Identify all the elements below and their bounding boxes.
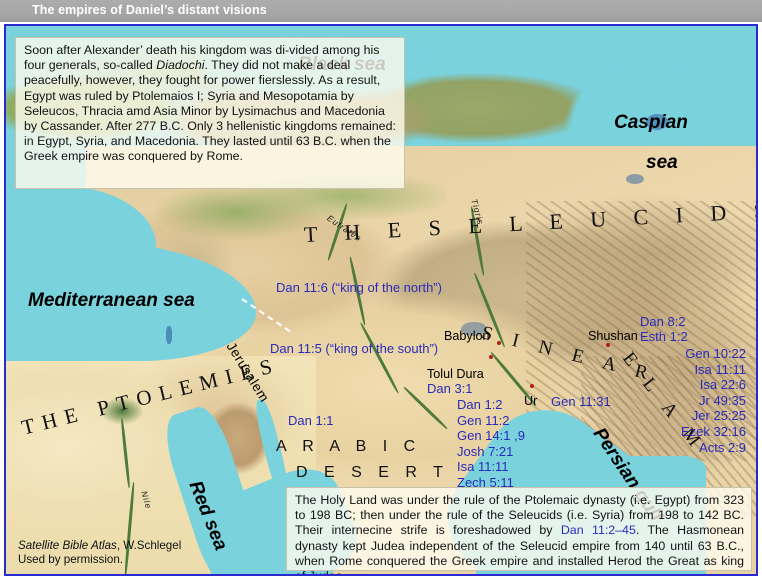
reference-item: Jr 49:35 [594, 393, 746, 409]
desert-label-arabic: A R A B I C [276, 438, 421, 456]
reference-item: Gen 10:22 [594, 346, 746, 362]
credit-atlas-title: Satellite Bible Atlas [18, 539, 117, 552]
reference-item: Isa 11:11 [457, 459, 525, 475]
city-label-shushan: Shushan [588, 329, 638, 343]
reference-item: Gen 11:2 [457, 413, 525, 429]
map-frame: Black sea Caspian sea Mediterranean sea … [4, 24, 758, 576]
reference-item: Dan 1:2 [457, 397, 525, 413]
city-dot-ur [530, 384, 534, 388]
reference-list-elam: Gen 10:22 Isa 11:11 Isa 22:6 Jr 49:35 Je… [594, 346, 746, 455]
screenshot-root: The empires of Daniel’s distant visions [0, 0, 762, 580]
reference-item: Ezek 32:16 [594, 424, 746, 440]
credit-line-2: Used by permission. [18, 553, 181, 567]
sealabel-caspian-sea-line2: sea [646, 152, 678, 174]
reference-item: Isa 22:6 [594, 377, 746, 393]
note-bottom: The Holy Land was under the rule of the … [286, 487, 752, 571]
city-label-tolul-dura: Tolul Dura [427, 367, 484, 381]
note-bottom-reference[interactable]: Dan 11:2–45 [561, 523, 636, 537]
sealabel-mediterranean-sea: Mediterranean sea [28, 290, 195, 312]
annotation-shushan-ref-2: Esth 1:2 [640, 329, 688, 344]
water-dead-sea [166, 326, 172, 344]
map-credit: Satellite Bible Atlas, W.Schlegel Used b… [18, 539, 181, 567]
reference-item: Josh 7:21 [457, 444, 525, 460]
reference-item: Acts 2:9 [594, 440, 746, 456]
reference-item: Isa 11:11 [594, 362, 746, 378]
annotation-king-of-the-south: Dan 11:5 (“king of the south”) [270, 341, 438, 356]
city-dot-babylon-2 [489, 355, 493, 359]
note-top-part2: . They did not make a deal peacefully, h… [24, 58, 396, 163]
desert-label-desert: D E S E R T [296, 464, 449, 482]
annotation-jerusalem-ref: Dan 1:1 [288, 413, 334, 428]
city-dot-babylon [497, 341, 501, 345]
annotation-shushan-ref-1: Dan 8:2 [640, 314, 686, 329]
city-label-ur: Ur [524, 394, 537, 408]
city-label-babylon: Babylon [444, 329, 490, 343]
sealabel-caspian-sea: Caspian [614, 112, 688, 134]
annotation-tolul-dura-ref: Dan 3:1 [427, 381, 473, 396]
reference-list-sinear: Dan 1:2 Gen 11:2 Gen 14:1 ,9 Josh 7:21 I… [457, 397, 525, 491]
note-top: Soon after Alexander’ death his kingdom … [15, 37, 405, 189]
credit-line-1: Satellite Bible Atlas, W.Schlegel [18, 539, 181, 553]
credit-author: , W.Schlegel [117, 539, 181, 552]
window-title-bar: The empires of Daniel’s distant visions [0, 0, 762, 22]
reference-item: Jer 25:25 [594, 408, 746, 424]
water-lake-east [626, 174, 644, 184]
satellite-map: Black sea Caspian sea Mediterranean sea … [6, 26, 756, 574]
reference-item: Gen 14:1 ,9 [457, 428, 525, 444]
annotation-king-of-the-north: Dan 11:6 (“king of the north”) [276, 280, 442, 295]
note-top-italic: Diadochi [156, 58, 204, 72]
page-title: The empires of Daniel’s distant visions [32, 3, 267, 17]
